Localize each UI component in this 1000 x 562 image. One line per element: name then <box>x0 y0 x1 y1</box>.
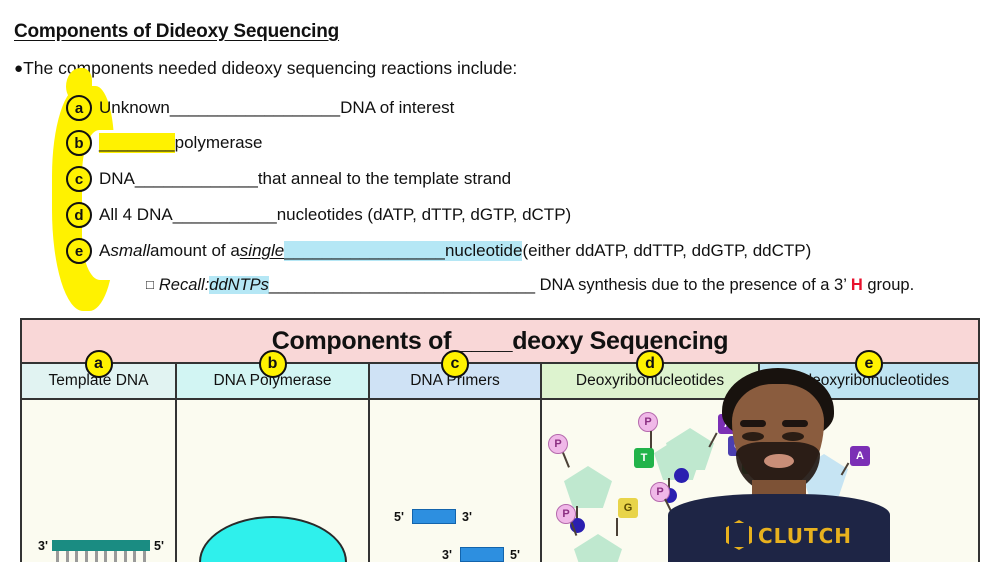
primer-bar-2 <box>460 547 504 562</box>
phosphate-icon: P <box>548 434 568 454</box>
item-d-post: nucleotides (dATP, dTTP, dGTP, dCTP) <box>277 205 572 225</box>
item-e-blank: _________________ <box>284 241 445 261</box>
dna-label-top-left: 3' <box>38 539 48 553</box>
base-T: T <box>634 448 654 468</box>
primer2-right-label: 5' <box>510 548 520 562</box>
template-dna-diagram: 3' 5' 5' 3' <box>40 540 162 562</box>
column-header-a: a Template DNA <box>22 364 175 400</box>
presenter-eyebrow-right <box>782 420 808 427</box>
item-c-pre: DNA <box>99 169 135 189</box>
item-e-pre: A <box>99 241 110 261</box>
item-a-post: DNA of interest <box>340 98 454 118</box>
item-c-post: that anneal to the template strand <box>258 169 511 189</box>
primer1-left-label: 5' <box>394 510 404 524</box>
item-e-post-highlight: nucleotide <box>445 241 523 261</box>
presenter-eye-right <box>782 432 804 441</box>
recall-text-before-h: DNA synthesis due to the presence of a 3… <box>535 276 851 294</box>
primer1-right-label: 3' <box>462 510 472 524</box>
recall-text-after-h: group. <box>863 276 914 294</box>
item-a-blank: __________________ <box>170 98 340 118</box>
notes-area: Components of Dideoxy Sequencing ●The co… <box>0 0 1000 312</box>
item-bubble-d: d <box>66 202 92 228</box>
phosphate-icon: P <box>638 412 658 432</box>
column-header-c: c DNA Primers <box>370 364 540 400</box>
item-bubble-e: e <box>66 238 92 264</box>
slide-root: Components of Dideoxy Sequencing ●The co… <box>0 0 1000 562</box>
lead-text: The components needed dideoxy sequencing… <box>23 58 517 78</box>
bullet-dot: ● <box>14 60 23 77</box>
column-body-c: 5' 3' 3' 5' <box>370 400 540 562</box>
recall-term: ddNTPs <box>209 276 269 294</box>
primer-bar-1 <box>412 509 456 524</box>
column-body-b <box>177 400 368 562</box>
item-c-blank: _____________ <box>135 169 258 189</box>
list-item-a: a Unknown __________________ DNA of inte… <box>66 95 454 121</box>
clutch-wordmark: CLUTCH <box>758 524 852 548</box>
sugar-pentagon <box>564 466 612 508</box>
list-item-c: c DNA _____________ that anneal to the t… <box>66 166 511 192</box>
polymerase-ellipse <box>199 516 347 562</box>
page-title: Components of Dideoxy Sequencing <box>14 21 339 43</box>
item-b-post: polymerase <box>175 133 263 153</box>
item-b-blank: ________ <box>99 133 175 153</box>
list-item-e: e A small amount of a single ___________… <box>66 238 811 264</box>
item-e-post: (either ddATP, ddTTP, ddGTP, ddCTP) <box>522 241 811 261</box>
figure-banner: Components of ____deoxy Sequencing <box>22 320 978 364</box>
dna-strand-top <box>52 540 150 551</box>
dna-base-pair-rungs <box>56 551 146 562</box>
item-d-pre: All 4 DNA <box>99 205 173 225</box>
item-e-emphasis-single: single <box>240 241 284 261</box>
sugar-pentagon <box>574 534 622 562</box>
presenter-mouth <box>764 454 794 468</box>
item-bubble-b: b <box>66 130 92 156</box>
item-d-blank: ___________ <box>173 205 277 225</box>
phosphate-icon: P <box>556 504 576 524</box>
presenter-eyebrow-left <box>740 420 766 427</box>
figure-column-dna-primers: c DNA Primers 5' 3' 3' 5' <box>370 364 542 562</box>
bond-line <box>562 452 570 468</box>
recall-blank: _____________________________ <box>269 276 535 294</box>
item-bubble-a: a <box>66 95 92 121</box>
webcam-overlay[interactable]: CLUTCH <box>660 368 892 562</box>
list-item-d: d All 4 DNA ___________ nucleotides (dAT… <box>66 202 571 228</box>
figure-banner-title: Components of ____deoxy Sequencing <box>272 327 729 356</box>
recall-h-atom: H <box>851 276 863 294</box>
bond-line <box>616 518 618 536</box>
recall-label: Recall: <box>159 276 209 294</box>
figure-column-template-dna: a Template DNA 3' 5' 5' 3' <box>22 364 177 562</box>
item-e-emphasis-small: small <box>110 241 150 261</box>
base-G: G <box>618 498 638 518</box>
column-header-b: b DNA Polymerase <box>177 364 368 400</box>
item-a-pre: Unknown <box>99 98 170 118</box>
column-body-a: 3' 5' 5' 3' <box>22 400 175 562</box>
bond-line <box>650 431 652 449</box>
presenter-eye-left <box>742 432 764 441</box>
recall-line: □Recall:ddNTPs__________________________… <box>146 276 914 295</box>
primer2-left-label: 3' <box>442 548 452 562</box>
dna-label-top-right: 5' <box>154 539 164 553</box>
item-bubble-c: c <box>66 166 92 192</box>
item-e-mid: amount of a <box>150 241 240 261</box>
figure-column-dna-polymerase: b DNA Polymerase <box>177 364 370 562</box>
list-item-b: b ________ polymerase <box>66 130 263 156</box>
square-bullet-icon: □ <box>146 277 154 292</box>
